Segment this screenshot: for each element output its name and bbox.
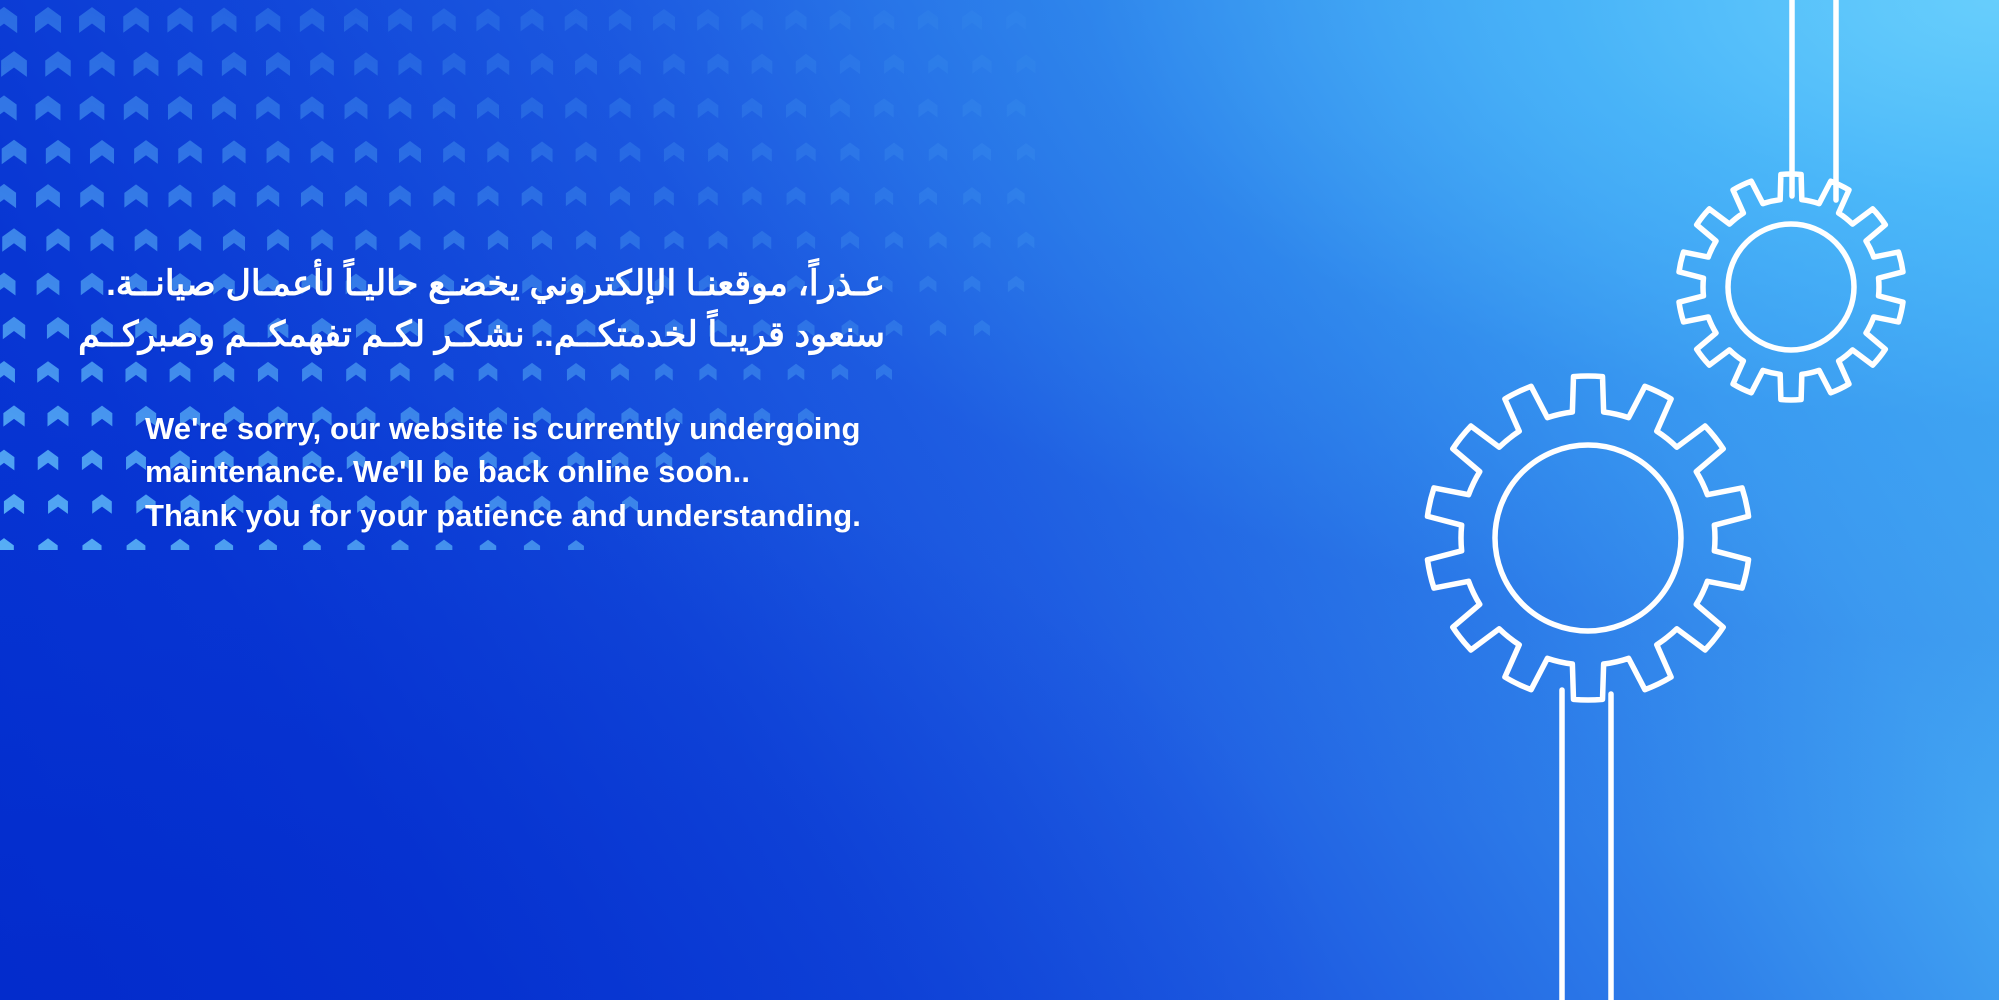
english-line-1: We're sorry, our website is currently un… xyxy=(145,407,945,450)
arabic-line-2: سنعود قريبـاً لخدمتكــم.. نشكـر لكـم تفه… xyxy=(145,309,885,360)
arabic-line-1: عـذراً، موقعنـا الإلكتروني يخضـع حاليـاً… xyxy=(145,258,885,309)
maintenance-page: عـذراً، موقعنـا الإلكتروني يخضـع حاليـاً… xyxy=(0,0,1999,1000)
arabic-message: عـذراً، موقعنـا الإلكتروني يخضـع حاليـاً… xyxy=(145,258,885,361)
english-line-2: maintenance. We'll be back online soon.. xyxy=(145,450,945,493)
english-message: We're sorry, our website is currently un… xyxy=(145,407,945,537)
message-block: عـذراً، موقعنـا الإلكتروني يخضـع حاليـاً… xyxy=(145,258,945,537)
english-line-3: Thank you for your patience and understa… xyxy=(145,494,945,537)
